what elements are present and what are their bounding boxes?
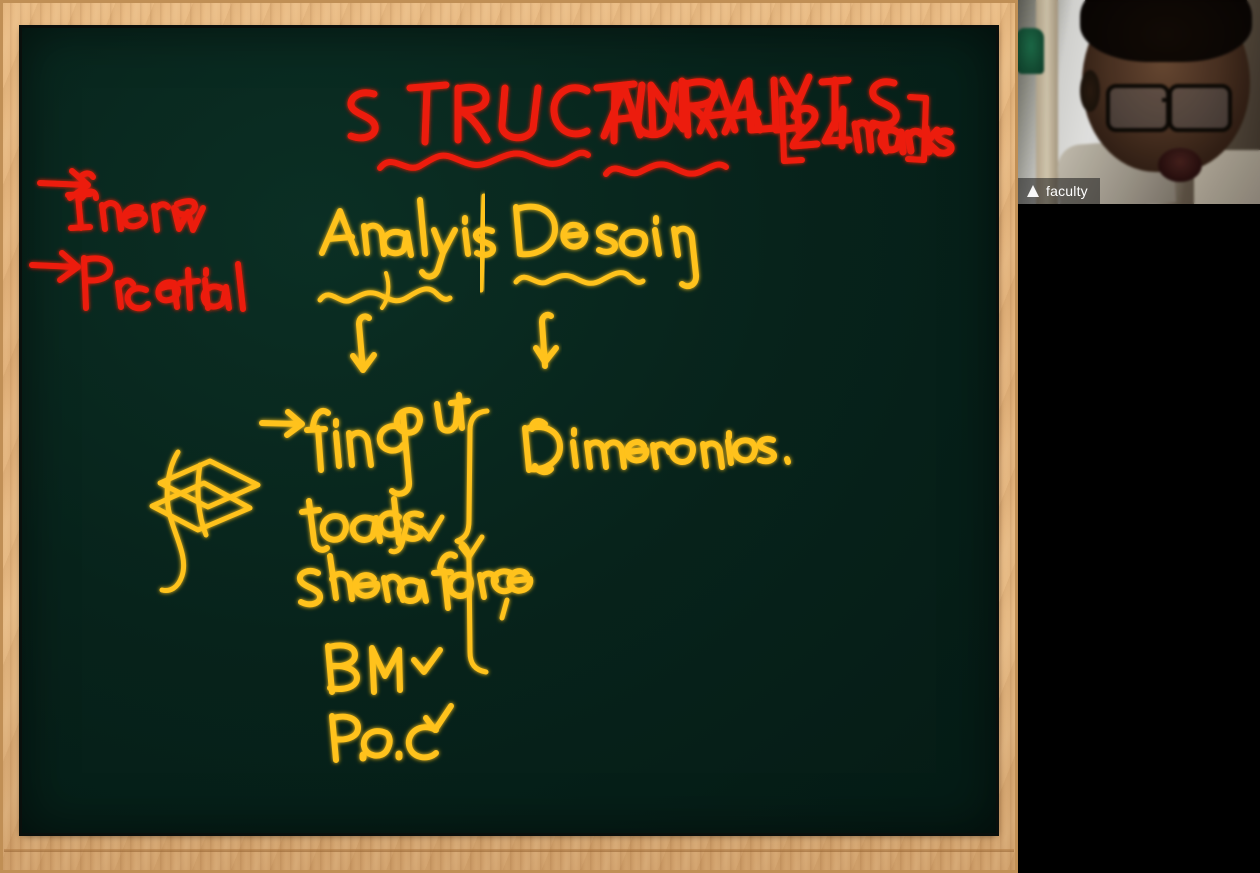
list-item-shear-force [300,537,530,618]
blackboard-region [0,0,1018,873]
list-item-bm [328,645,440,692]
right-panel: faculty [1018,0,1260,873]
webcam-blur-overlay [1018,0,1260,204]
heading-design [516,207,696,286]
list-item-loads [302,499,442,552]
board-title [351,77,951,174]
frame-ledge-line [4,849,1014,852]
list-item-finding-out [262,395,468,494]
curly-brace [457,411,487,672]
chalkboard-surface [22,28,996,833]
webcam-video-tile[interactable]: faculty [1018,0,1260,204]
webcam-label-text: faculty [1046,183,1088,199]
left-note-interview [40,171,203,230]
heading-analysis [320,200,493,308]
crossed-out-sketch [152,452,258,590]
triangle-logo-icon [1026,184,1040,198]
left-note-practical [32,253,243,309]
down-arrow-analysis [353,316,374,370]
screen-capture: faculty [0,0,1260,873]
down-arrow-design [536,315,556,366]
list-item-poc [332,706,451,760]
empty-black-area [1018,204,1260,873]
divider-line [481,196,484,290]
design-result-dimensions [525,421,788,472]
webcam-name-badge: faculty [1018,178,1100,204]
handwriting-layer [22,28,996,833]
